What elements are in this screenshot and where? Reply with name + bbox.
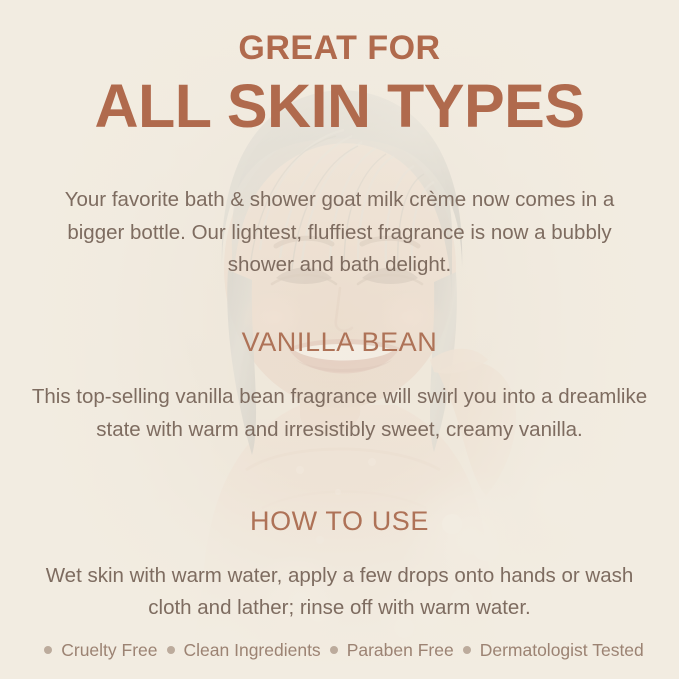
product-info-card: GREAT FOR ALL SKIN TYPES Your favorite b… [0, 0, 679, 679]
section-heading-how-to-use: HOW TO USE [250, 508, 429, 535]
eyebrow-heading: GREAT FOR [238, 31, 440, 65]
section-paragraph-how-to-use: Wet skin with warm water, apply a few dr… [40, 560, 640, 625]
page-title: ALL SKIN TYPES [94, 75, 584, 137]
section-paragraph-vanilla-bean: This top-selling vanilla bean fragrance … [30, 381, 650, 446]
section-heading-vanilla-bean: VANILLA BEAN [242, 329, 438, 356]
intro-paragraph: Your favorite bath & shower goat milk cr… [62, 184, 618, 281]
content-layer: GREAT FOR ALL SKIN TYPES Your favorite b… [0, 0, 679, 679]
